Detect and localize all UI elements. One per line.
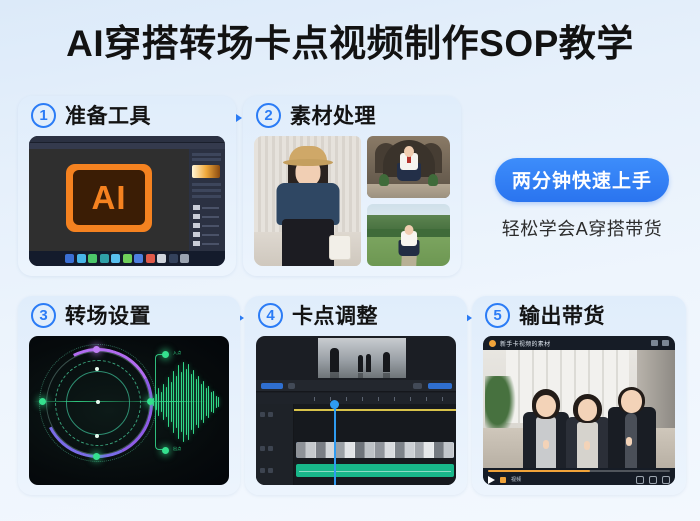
video-editor-screenshot bbox=[256, 336, 456, 485]
track-mute-button[interactable] bbox=[260, 446, 265, 451]
outfit-photo-main bbox=[254, 136, 361, 266]
fullscreen-icon[interactable] bbox=[651, 340, 658, 346]
bracket-label-bottom: 出点 bbox=[173, 446, 182, 452]
potted-plant bbox=[428, 174, 438, 186]
dock-app-icon bbox=[157, 254, 166, 263]
model-wide-pants bbox=[282, 219, 334, 266]
panel-row bbox=[192, 183, 221, 186]
layer-thumb bbox=[193, 214, 200, 219]
clip-thumbnail-strip bbox=[296, 442, 454, 458]
promo-badge: 两分钟快速上手 bbox=[495, 158, 669, 202]
host-person-right bbox=[606, 376, 658, 468]
step-card-1-illustration: AI bbox=[29, 136, 225, 266]
step-card-5-title: 输出带货 bbox=[519, 300, 605, 330]
illustrator-app-screenshot: AI bbox=[29, 136, 225, 266]
panel-row bbox=[192, 195, 221, 198]
model-head bbox=[404, 225, 413, 235]
audio-waveform bbox=[153, 362, 219, 442]
dock-app-icon bbox=[65, 254, 74, 263]
step-card-3[interactable]: 3 转场设置 入点 出点 bbox=[18, 296, 240, 495]
video-player[interactable]: 新手卡视频的素材 bbox=[483, 336, 675, 485]
panel-row bbox=[192, 189, 221, 192]
model-head bbox=[404, 146, 414, 157]
player-progress-fill bbox=[488, 470, 590, 472]
player-title-bar: 新手卡视频的素材 bbox=[483, 336, 675, 350]
timeline-tracks[interactable] bbox=[294, 404, 456, 485]
model-tote-bag bbox=[329, 235, 351, 260]
step-card-3-illustration: 入点 出点 bbox=[29, 336, 229, 485]
dock-app-icon bbox=[169, 254, 178, 263]
step-number-badge: 4 bbox=[258, 303, 283, 328]
model-straw-hat bbox=[289, 146, 327, 165]
purple-progress-arc bbox=[29, 336, 167, 472]
editor-toolbar bbox=[256, 380, 456, 392]
step-card-5-header: 5 输出带货 bbox=[472, 296, 686, 334]
step-card-2-illustration bbox=[254, 136, 450, 266]
player-video-title: 新手卡视频的素材 bbox=[500, 339, 550, 348]
floor-reflection bbox=[383, 373, 390, 378]
dock-app-icon bbox=[146, 254, 155, 263]
app-menubar bbox=[29, 136, 225, 143]
settings-icon[interactable] bbox=[636, 476, 644, 484]
layer-thumb bbox=[193, 232, 200, 237]
dock-app-icon bbox=[134, 254, 143, 263]
player-brand-icon bbox=[489, 340, 496, 347]
player-right-controls bbox=[636, 476, 670, 484]
step-card-1-header: 1 准备工具 bbox=[18, 96, 236, 134]
like-icon[interactable] bbox=[649, 476, 657, 484]
step-card-2-title: 素材处理 bbox=[290, 100, 376, 130]
step-card-2[interactable]: 2 素材处理 bbox=[243, 96, 461, 276]
layer-thumb bbox=[193, 223, 200, 228]
layer-thumb bbox=[193, 241, 200, 246]
track-solo-button[interactable] bbox=[268, 446, 273, 451]
dock-trash-icon bbox=[180, 254, 189, 263]
step-card-5[interactable]: 5 输出带货 新手卡视频的素材 bbox=[472, 296, 686, 495]
dock-app-icon bbox=[111, 254, 120, 263]
step-number-badge: 1 bbox=[31, 103, 56, 128]
player-progress-track[interactable] bbox=[488, 470, 670, 472]
player-top-icons bbox=[651, 340, 669, 346]
promo-subtitle: 轻松学会A穿搭带货 bbox=[476, 215, 688, 241]
dock-app-icon bbox=[123, 254, 132, 263]
step-card-1[interactable]: 1 准备工具 AI bbox=[18, 96, 236, 276]
panel-row bbox=[192, 158, 221, 161]
dock-app-icon bbox=[88, 254, 97, 263]
app-canvas: AI bbox=[29, 149, 189, 251]
player-controls[interactable]: 视频 bbox=[488, 474, 670, 485]
illustrator-logo-text: AI bbox=[73, 170, 145, 225]
bracket-node-bottom bbox=[162, 447, 169, 454]
playhead-knob[interactable] bbox=[330, 400, 339, 409]
track-control[interactable] bbox=[260, 412, 265, 417]
page-title-wrap: AI穿搭转场卡点视频制作SOP教学 bbox=[0, 22, 700, 66]
silhouette-figure bbox=[330, 348, 339, 372]
thumbs-up-gesture bbox=[626, 437, 632, 446]
center-dot bbox=[96, 400, 100, 404]
toolbar-button[interactable] bbox=[261, 383, 283, 389]
step-number-badge: 5 bbox=[485, 303, 510, 328]
node-dot-top bbox=[93, 346, 100, 353]
outfit-photo-garden bbox=[367, 204, 450, 266]
step-number-badge: 2 bbox=[256, 103, 281, 128]
layer-thumb bbox=[193, 205, 200, 210]
player-control-bar[interactable]: 视频 bbox=[483, 468, 675, 485]
fullscreen-icon[interactable] bbox=[662, 476, 670, 484]
potted-plant bbox=[379, 174, 389, 186]
building-steps bbox=[367, 184, 450, 198]
bracket-label-top: 入点 bbox=[173, 350, 182, 356]
step-card-4-header: 4 卡点调整 bbox=[245, 296, 467, 334]
marker-dot bbox=[95, 434, 99, 438]
macos-dock bbox=[29, 251, 225, 266]
program-monitor bbox=[318, 338, 406, 378]
outfit-photo-column bbox=[367, 136, 450, 266]
transition-visualizer: 入点 出点 bbox=[29, 336, 229, 485]
toolbar-button[interactable] bbox=[288, 383, 295, 389]
outfit-photo-collage bbox=[254, 136, 450, 266]
thumbs-up-gesture bbox=[543, 440, 549, 449]
person-face bbox=[578, 399, 597, 420]
layer-name bbox=[202, 234, 219, 236]
silhouette-figure bbox=[358, 355, 363, 372]
step-card-3-header: 3 转场设置 bbox=[18, 296, 240, 334]
play-icon[interactable] bbox=[488, 476, 495, 484]
toolbar-button[interactable] bbox=[413, 383, 422, 389]
step-card-3-title: 转场设置 bbox=[65, 300, 151, 330]
step-card-2-header: 2 素材处理 bbox=[243, 96, 461, 134]
dock-app-icon bbox=[77, 254, 86, 263]
bracket-node-top bbox=[162, 351, 169, 358]
player-time-label: 视频 bbox=[511, 476, 522, 483]
outfit-photo-architecture bbox=[367, 136, 450, 198]
app-right-panels bbox=[189, 149, 225, 251]
marker-track-line bbox=[294, 409, 456, 411]
thumbs-up-gesture bbox=[584, 441, 590, 450]
step-card-4-illustration bbox=[256, 336, 456, 485]
toolbar-button[interactable] bbox=[428, 383, 452, 389]
step-card-1-title: 准备工具 bbox=[65, 100, 151, 130]
host-person-center bbox=[564, 385, 612, 468]
track-mute-button[interactable] bbox=[260, 468, 265, 473]
track-headers bbox=[256, 404, 294, 485]
playhead[interactable] bbox=[334, 404, 336, 485]
more-options-icon[interactable] bbox=[662, 340, 669, 346]
floor-reflection bbox=[358, 373, 363, 378]
track-solo-button[interactable] bbox=[268, 468, 273, 473]
timeline-ruler[interactable] bbox=[256, 393, 456, 404]
step-number-badge: 3 bbox=[31, 303, 56, 328]
layer-name bbox=[202, 207, 219, 209]
layer-name bbox=[202, 225, 219, 227]
node-dot-bottom bbox=[93, 453, 100, 460]
track-control[interactable] bbox=[268, 412, 273, 417]
silhouette-figure bbox=[383, 352, 390, 372]
infographic-page: AI穿搭转场卡点视频制作SOP教学 1 准备工具 AI bbox=[0, 0, 700, 521]
node-dot-left bbox=[39, 398, 46, 405]
marker-icon[interactable] bbox=[500, 477, 506, 483]
panel-row bbox=[192, 153, 221, 156]
marker-dot bbox=[95, 367, 99, 371]
gradient-swatch bbox=[192, 165, 220, 178]
layer-name bbox=[202, 243, 219, 245]
dock-app-icon bbox=[100, 254, 109, 263]
silhouette-figure bbox=[366, 354, 371, 372]
audio-clip[interactable] bbox=[296, 464, 454, 477]
person-face bbox=[621, 390, 642, 413]
illustrator-logo: AI bbox=[66, 164, 152, 232]
step-card-5-illustration: 新手卡视频的素材 bbox=[483, 336, 675, 485]
step-card-4[interactable]: 4 卡点调整 bbox=[245, 296, 467, 495]
promo-callout: 两分钟快速上手 轻松学会A穿搭带货 bbox=[476, 158, 688, 241]
page-title: AI穿搭转场卡点视频制作SOP教学 bbox=[0, 22, 700, 66]
layer-name bbox=[202, 216, 219, 218]
step-card-4-title: 卡点调整 bbox=[292, 300, 378, 330]
video-clip[interactable] bbox=[296, 442, 454, 458]
floor-reflection bbox=[330, 372, 339, 378]
player-video-area[interactable] bbox=[483, 350, 675, 468]
